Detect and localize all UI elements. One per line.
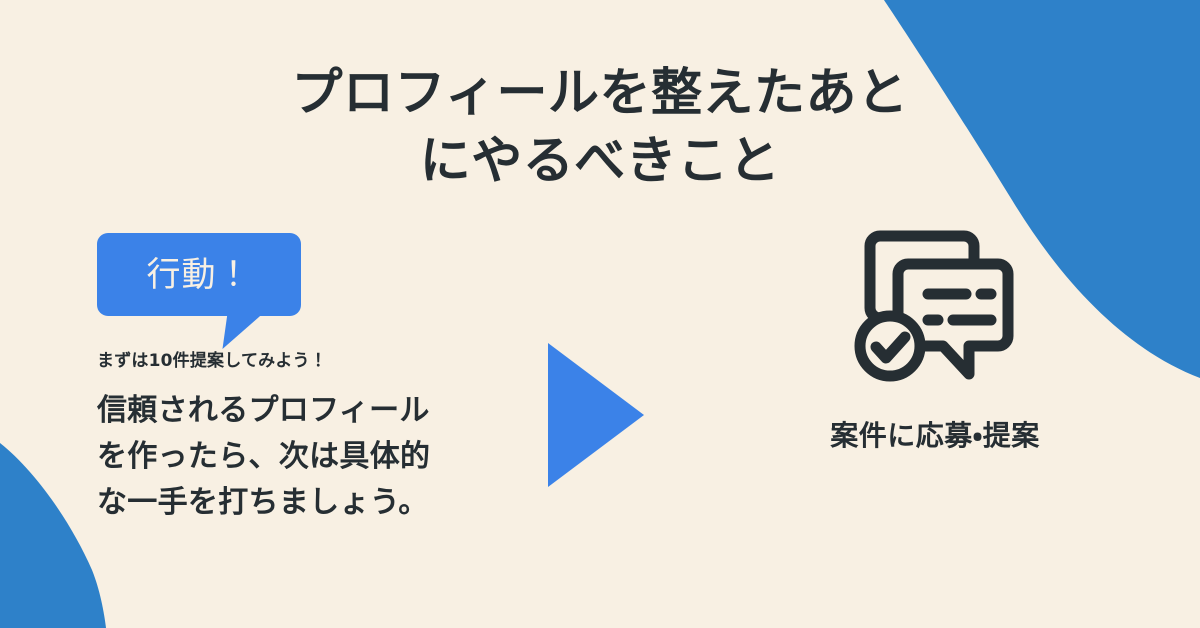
left-content-column: 行動！ まずは10件提案してみよう！ 信頼されるプロフィール を作ったら、次は具…	[97, 233, 497, 351]
badge-bubble: 行動！	[97, 233, 301, 316]
title-line-1: プロフィールを整えたあと	[0, 58, 1200, 130]
banner-canvas: プロフィールを整えたあと にやるべきこと 行動！ まずは10件提案してみよう！ …	[0, 0, 1200, 628]
title-line-2: にやるべきこと	[0, 126, 1200, 198]
caption-text: まずは10件提案してみよう！	[97, 346, 327, 371]
body-paragraph: 信頼されるプロフィール を作ったら、次は具体的 な一手を打ちましょう。	[97, 388, 477, 526]
badge-label: 行動！	[147, 258, 252, 292]
play-triangle-right-icon	[548, 343, 644, 487]
right-label: 案件に応募・提案	[830, 414, 1040, 454]
page-title: プロフィールを整えたあと にやるべきこと	[0, 58, 1200, 199]
body-line-2: を作ったら、次は具体的	[97, 434, 477, 480]
badge-tail-icon	[222, 313, 263, 349]
body-line-1: 信頼されるプロフィール	[97, 388, 477, 434]
action-badge: 行動！	[97, 233, 301, 351]
body-line-3: な一手を打ちましょう。	[97, 480, 477, 526]
right-content-column: 案件に応募・提案	[800, 222, 1070, 454]
chat-bubbles-check-icon	[850, 222, 1020, 394]
